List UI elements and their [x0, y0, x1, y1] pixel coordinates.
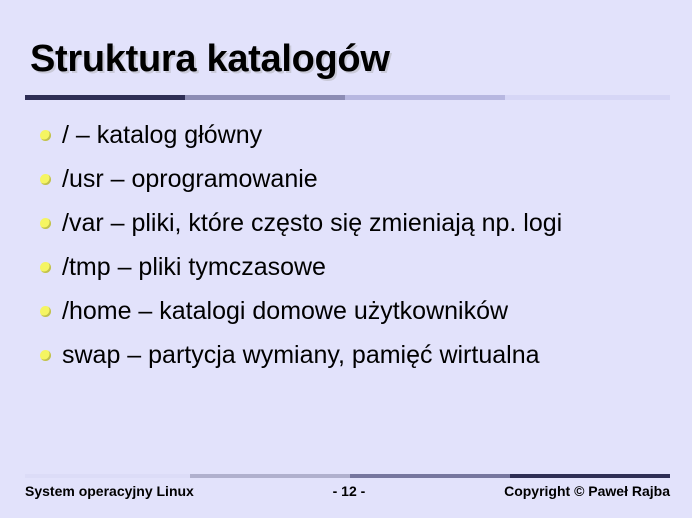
slide-footer: System operacyjny Linux - 12 - Copyright…: [25, 483, 670, 499]
footer-divider-segment-3: [350, 474, 510, 478]
list-item: / – katalog główny: [40, 118, 670, 162]
list-item-label: /home – katalogi domowe użytkowników: [62, 294, 508, 328]
footer-page-number: - 12 -: [333, 483, 366, 499]
title-divider-segment-3: [345, 95, 505, 100]
bullet-dot-icon: [40, 174, 51, 185]
slide: Struktura katalogów / – katalog główny /…: [0, 0, 692, 518]
list-item: /home – katalogi domowe użytkowników: [40, 294, 670, 338]
list-item: /usr – oprogramowanie: [40, 162, 670, 206]
footer-divider-segment-2: [190, 474, 350, 478]
footer-divider-segment-4: [510, 474, 670, 478]
bullet-list: / – katalog główny /usr – oprogramowanie…: [40, 118, 670, 382]
footer-course-title: System operacyjny Linux: [25, 483, 194, 499]
slide-title: Struktura katalogów: [30, 38, 390, 81]
list-item-label: / – katalog główny: [62, 118, 262, 152]
bullet-dot-icon: [40, 350, 51, 361]
list-item-label: /var – pliki, które często się zmieniają…: [62, 206, 562, 240]
list-item: swap – partycja wymiany, pamięć wirtualn…: [40, 338, 670, 382]
footer-divider-segment-1: [25, 474, 190, 478]
footer-divider: [25, 474, 670, 478]
footer-copyright: Copyright © Paweł Rajba: [504, 483, 670, 499]
bullet-dot-icon: [40, 306, 51, 317]
bullet-dot-icon: [40, 262, 51, 273]
list-item-label: /tmp – pliki tymczasowe: [62, 250, 326, 284]
list-item: /tmp – pliki tymczasowe: [40, 250, 670, 294]
list-item-label: swap – partycja wymiany, pamięć wirtualn…: [62, 338, 540, 372]
list-item: /var – pliki, które często się zmieniają…: [40, 206, 670, 250]
bullet-dot-icon: [40, 218, 51, 229]
bullet-dot-icon: [40, 130, 51, 141]
title-divider-segment-1: [25, 95, 185, 100]
title-divider-segment-4: [505, 95, 670, 100]
list-item-label: /usr – oprogramowanie: [62, 162, 318, 196]
title-divider: [25, 95, 670, 100]
title-divider-segment-2: [185, 95, 345, 100]
